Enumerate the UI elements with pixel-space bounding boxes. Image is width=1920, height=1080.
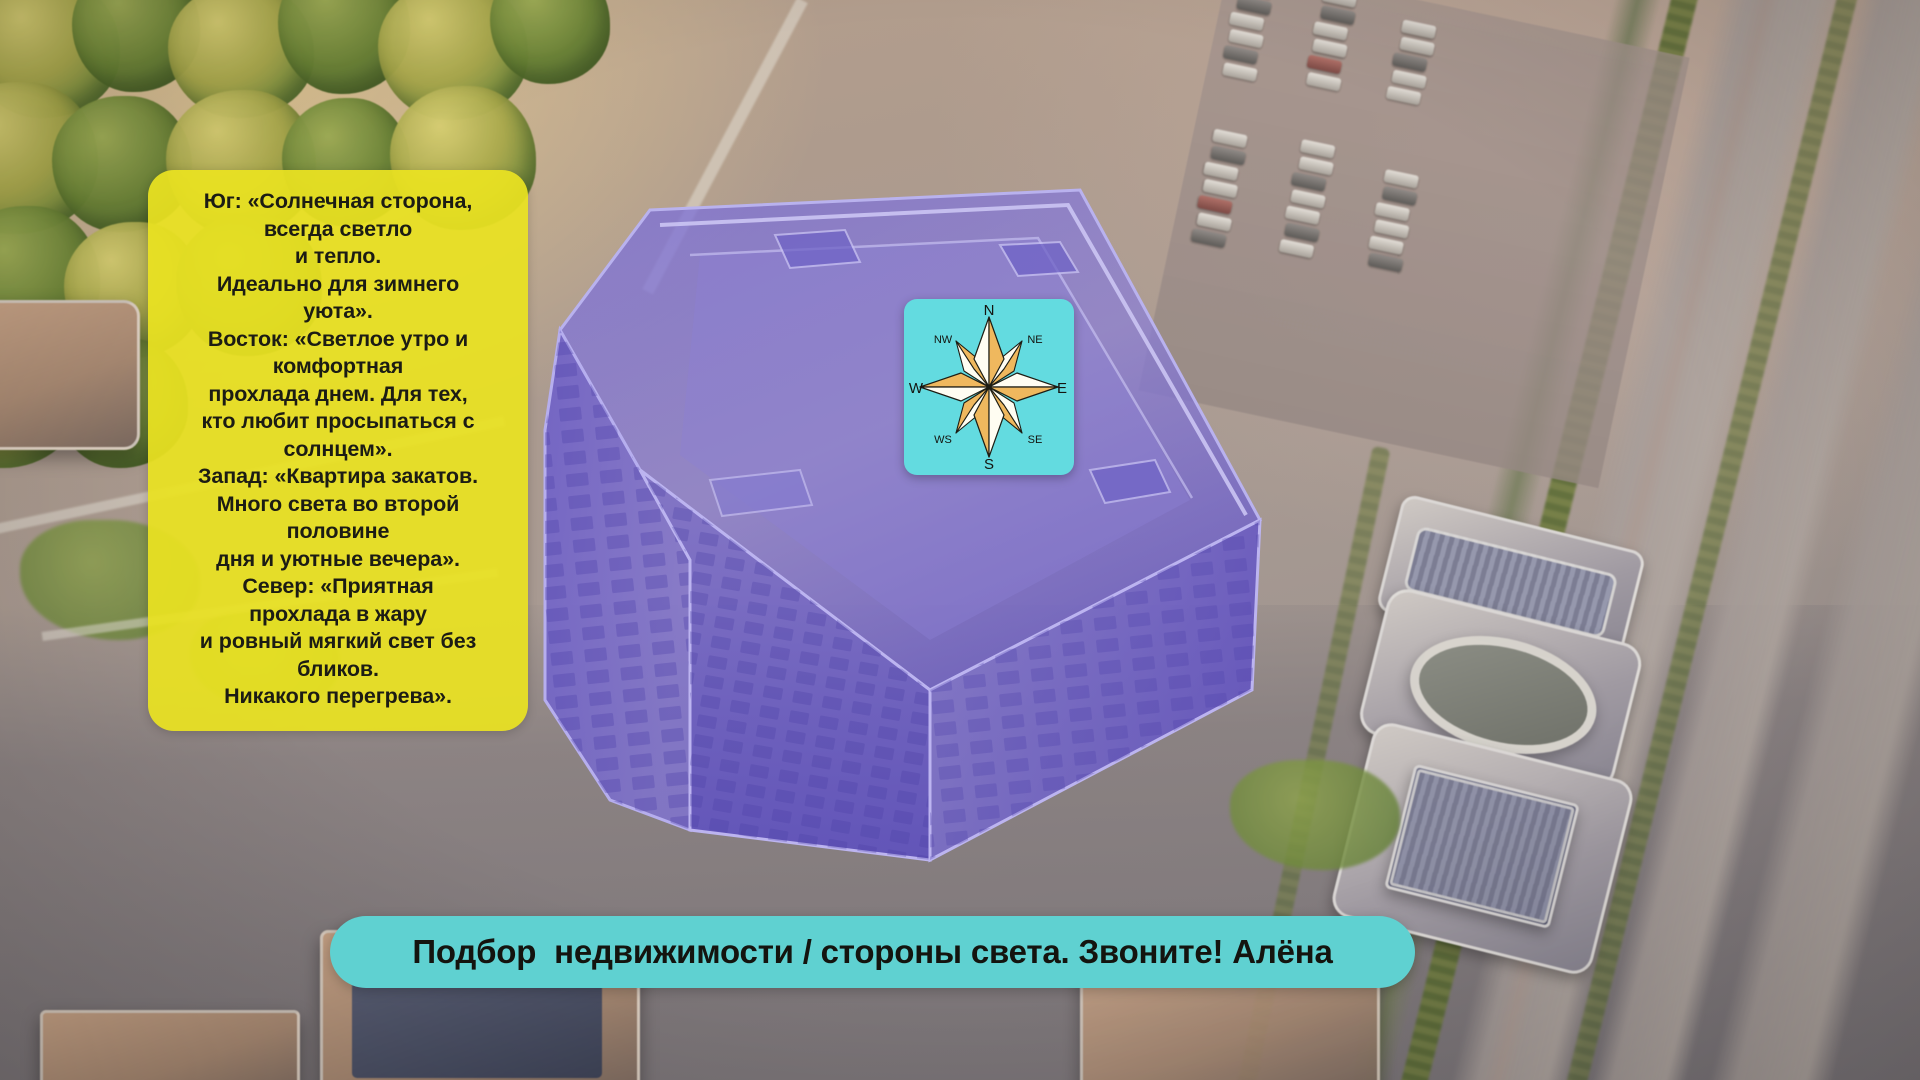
info-line: Много света во второй — [162, 491, 514, 519]
info-line: кто любит просыпаться с — [162, 408, 514, 436]
info-line: Юг: «Солнечная сторона, — [162, 188, 514, 216]
compass-label-n: N — [984, 302, 995, 319]
info-line: прохлада днем. Для тех, — [162, 381, 514, 409]
compass-label-se: SE — [1028, 434, 1043, 446]
info-line: Восток: «Светлое утро и — [162, 326, 514, 354]
info-line: Север: «Приятная — [162, 573, 514, 601]
info-line: Идеально для зимнего — [162, 271, 514, 299]
compass-label-nw: NW — [934, 334, 953, 346]
compass-label-e: E — [1057, 380, 1067, 397]
info-line: всегда светло — [162, 216, 514, 244]
info-line: Никакого перегрева». — [162, 683, 514, 711]
info-line: солнцем». — [162, 436, 514, 464]
compass-rose-icon: N S W E NW NE WS SE — [904, 299, 1074, 475]
info-line: уюта». — [162, 298, 514, 326]
info-line: половине — [162, 518, 514, 546]
info-line: прохлада в жару — [162, 601, 514, 629]
compass-card: N S W E NW NE WS SE — [904, 299, 1074, 475]
info-line: и ровный мягкий свет без — [162, 628, 514, 656]
cta-banner-text: Подбор недвижимости / стороны света. Зво… — [412, 933, 1332, 971]
compass-label-w: W — [909, 380, 924, 397]
compass-label-s: S — [984, 456, 994, 473]
info-line: и тепло. — [162, 243, 514, 271]
info-card: Юг: «Солнечная сторона, всегда светло и … — [148, 170, 528, 731]
compass-label-ws: WS — [934, 434, 952, 446]
info-line: дня и уютные вечера». — [162, 546, 514, 574]
info-line: Запад: «Квартира закатов. — [162, 463, 514, 491]
cta-banner[interactable]: Подбор недвижимости / стороны света. Зво… — [330, 916, 1415, 988]
info-line: комфортная — [162, 353, 514, 381]
info-line: бликов. — [162, 656, 514, 684]
compass-label-ne: NE — [1027, 334, 1042, 346]
